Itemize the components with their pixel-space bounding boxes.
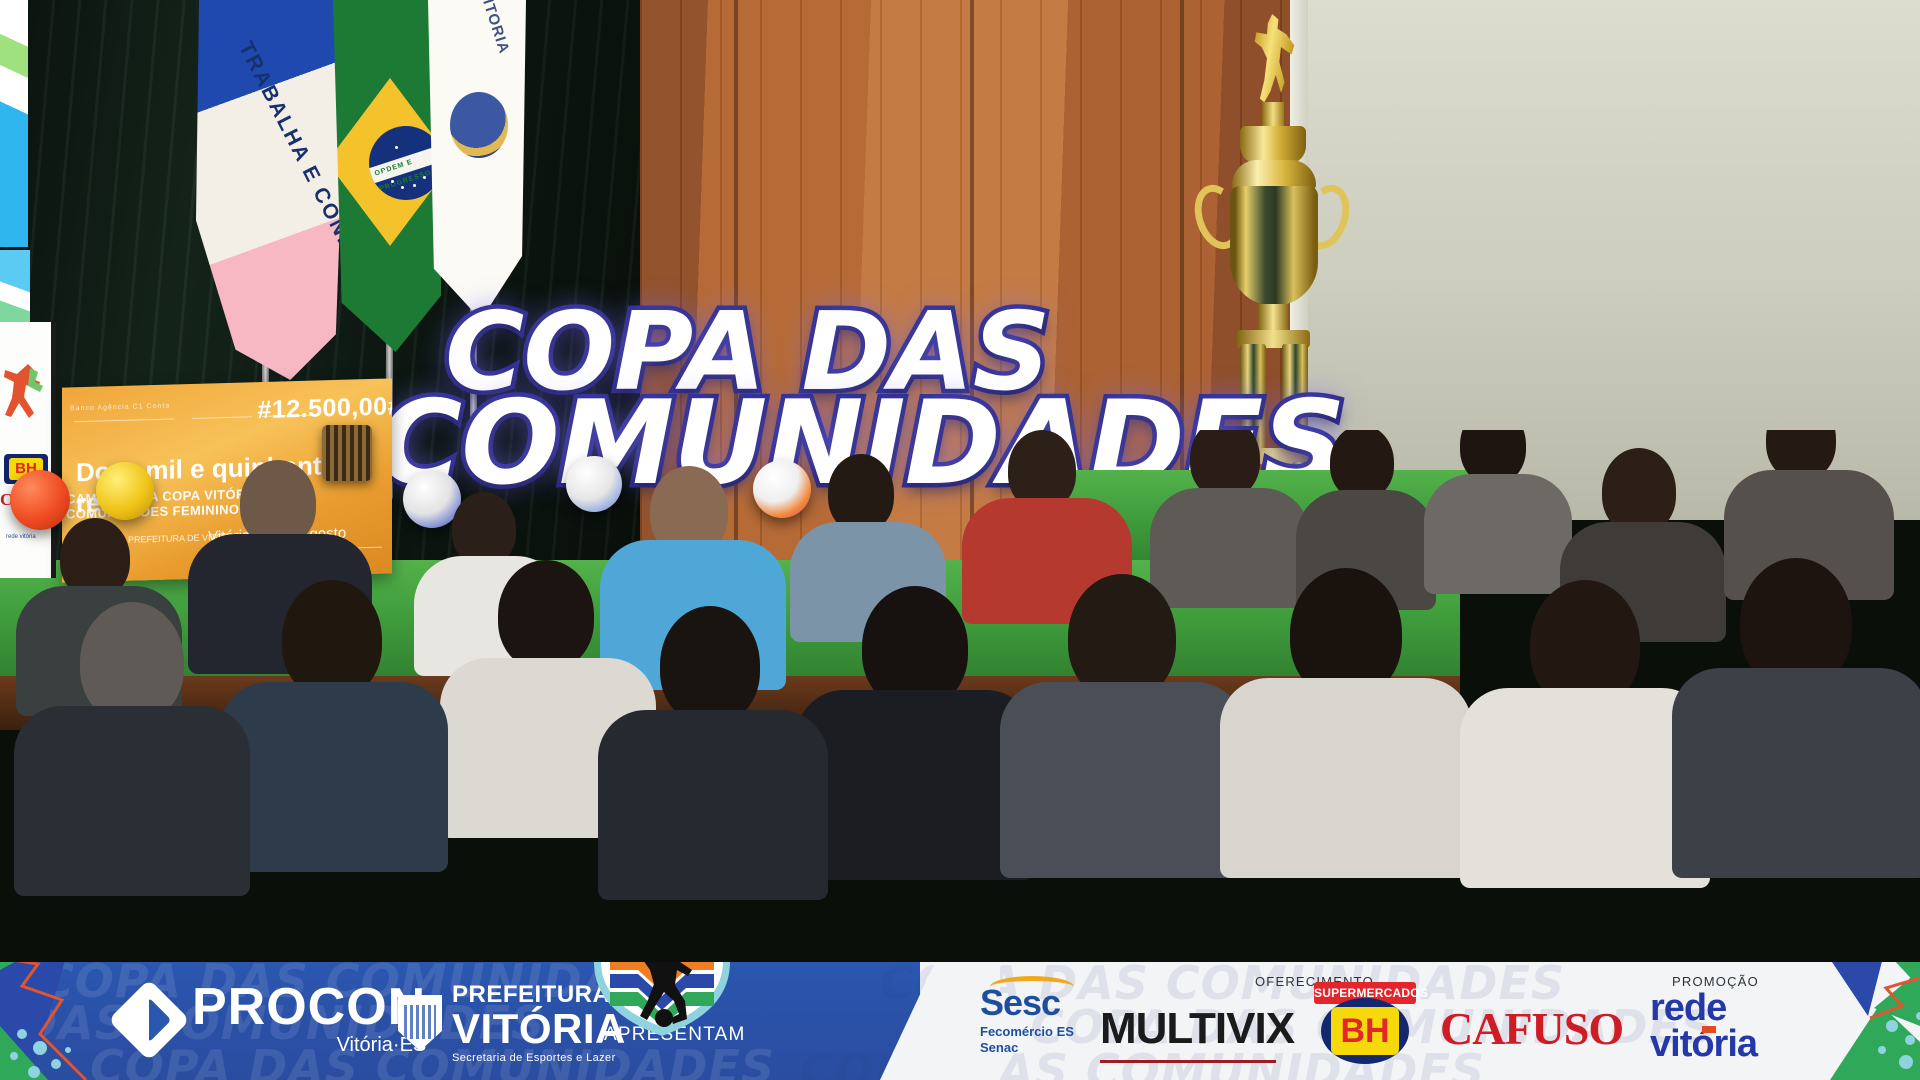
audience-member	[1424, 474, 1572, 594]
audience-member	[1330, 430, 1394, 499]
check-amount: #12.500,00#	[257, 392, 392, 425]
rede-vitoria-accent-icon	[1702, 1026, 1716, 1033]
flag-brazil: ORDEM E PROGRESSO	[333, 0, 441, 352]
logo-supermercados-bh[interactable]: SUPERMERCADOS BH	[1310, 982, 1420, 1064]
trophy-player-figurine	[1252, 14, 1296, 106]
logo-cafuso[interactable]: CAFUSO	[1440, 1002, 1623, 1055]
procon-diamond-icon	[108, 978, 190, 1060]
logo-multivix[interactable]: MULTIVIX	[1100, 1004, 1294, 1063]
audience-member	[14, 706, 250, 896]
multivix-underline	[1100, 1060, 1276, 1063]
audience-crowd	[0, 430, 1920, 990]
bh-circle: BH	[1321, 998, 1409, 1064]
audience-member	[282, 580, 382, 698]
rollup-player-illustration	[2, 358, 50, 434]
prefeitura-line-3: Secretaria de Esportes e Lazer	[452, 1052, 651, 1064]
check-micro-fields: Banco Agência C1 Conta	[70, 403, 170, 413]
flag-vt-crest	[450, 92, 508, 158]
rede-vitoria-line-1: rede	[1650, 990, 1757, 1026]
sponsor-banner: COPA DAS COMUNIDADES COPA DAS COMUNIDADE…	[0, 962, 1920, 1080]
flag-vitoria: VITORIA	[428, 0, 526, 320]
sesc-sub-2: Senac	[980, 1040, 1088, 1056]
procon-name: PROCON	[192, 982, 426, 1032]
audience-member	[660, 606, 760, 724]
projector-screen	[0, 0, 28, 247]
audience-member	[1000, 682, 1244, 878]
logo-procon[interactable]: PROCON Vitória·ES	[120, 982, 426, 1057]
bh-initials: BH	[1331, 1007, 1399, 1055]
audience-member	[220, 682, 448, 872]
vitoria-coat-of-arms-icon	[398, 995, 442, 1051]
audience-member	[796, 690, 1034, 880]
audience-member	[1220, 678, 1472, 878]
sesc-sub-1: Fecomércio ES	[980, 1024, 1088, 1040]
audience-member	[452, 492, 516, 566]
logo-rede-vitoria[interactable]: rede vitória	[1650, 990, 1757, 1062]
audience-member	[1672, 668, 1920, 878]
logo-sesc[interactable]: Sesc Fecomércio ES Senac	[980, 986, 1088, 1056]
audience-member	[80, 602, 184, 722]
screenshot-root: TRABALHA E CONFIA ORDEM E PROGRESSO VITO…	[0, 0, 1920, 1080]
audience-member	[1150, 488, 1310, 608]
multivix-name: MULTIVIX	[1100, 1004, 1294, 1054]
audience-member	[598, 710, 828, 900]
flag-es-motto: TRABALHA E CONFIA	[233, 38, 341, 218]
audience-member	[828, 454, 894, 532]
trophy-crown	[1240, 126, 1306, 164]
event-photograph: TRABALHA E CONFIA ORDEM E PROGRESSO VITO…	[0, 0, 1920, 1080]
decorative-corner-right	[1770, 962, 1920, 1080]
sesc-swoosh-icon	[990, 976, 1074, 998]
copa-comunidades-shield-logo[interactable]: COPA VITÓRIA DAS COMUNIDADES	[586, 962, 738, 1040]
audience-member	[498, 560, 594, 670]
trophy-cup	[1230, 186, 1318, 306]
